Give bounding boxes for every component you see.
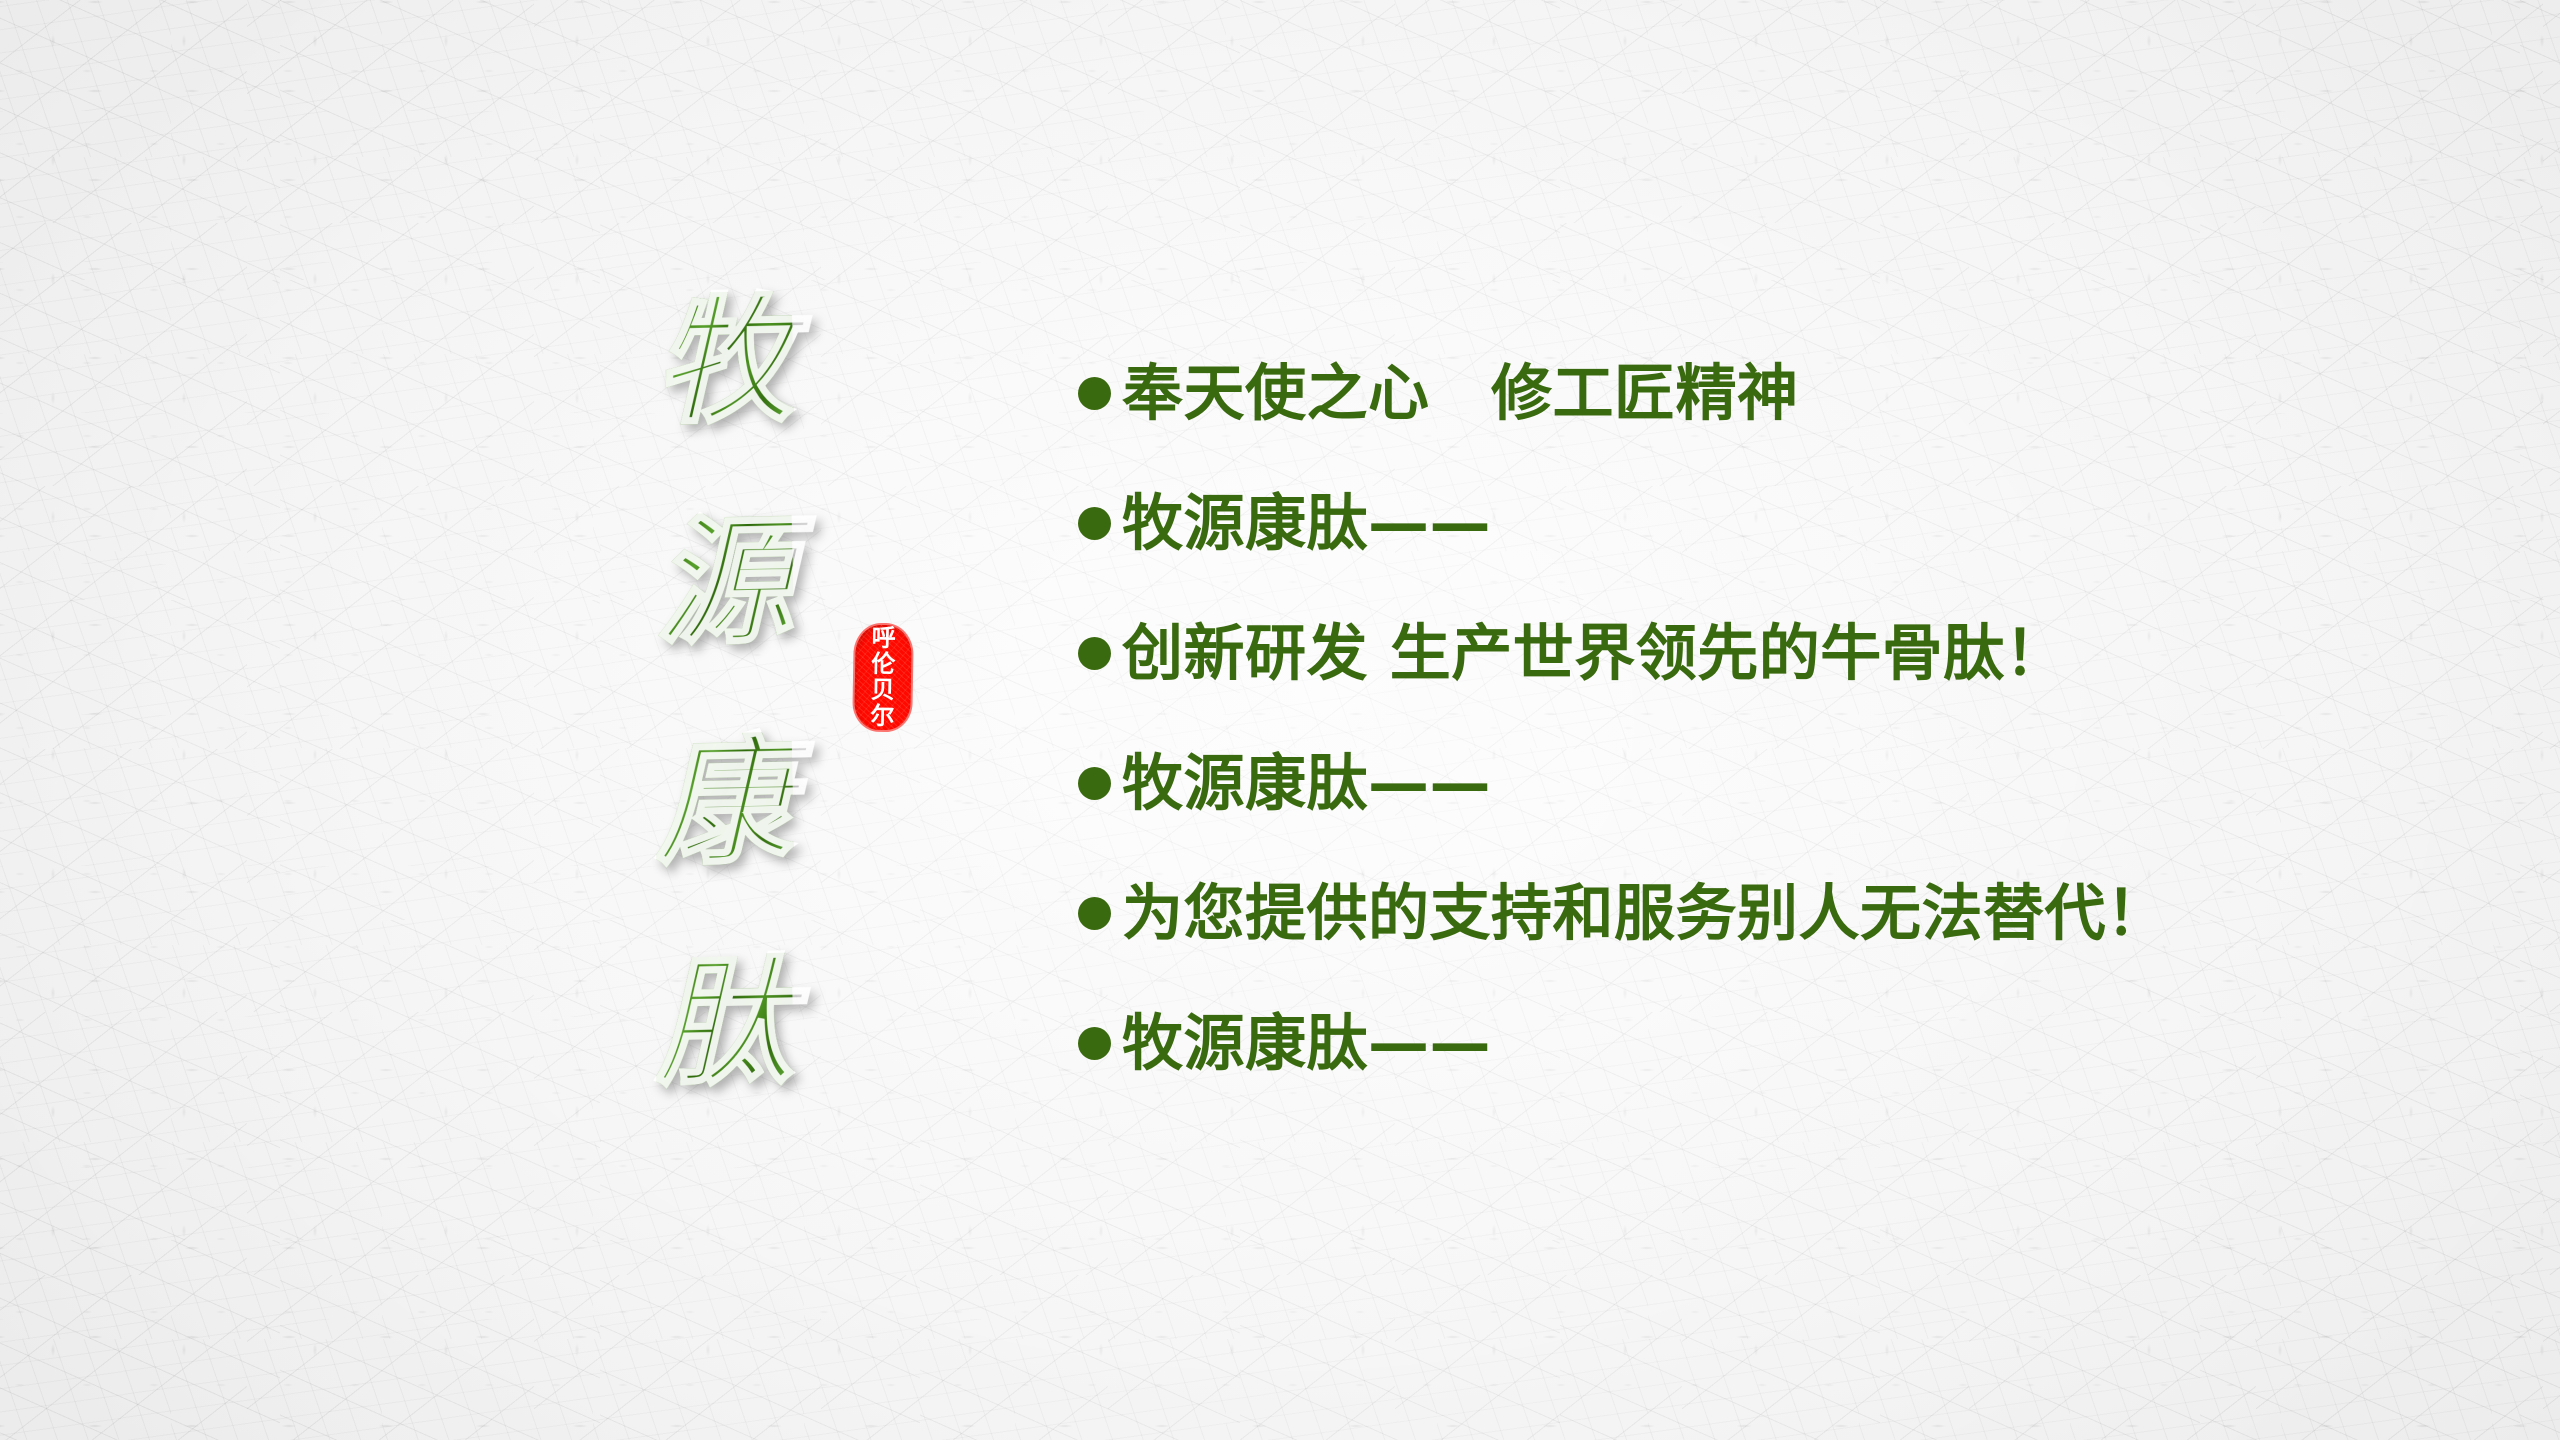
red-seal-stamp-icon: 呼 伦 贝 尔 (854, 625, 912, 731)
bullet-text-4: 牧源康肽—— (1122, 753, 1491, 814)
title-char-3: 康 (654, 732, 795, 873)
seal-char-4: 尔 (870, 703, 894, 729)
seal-char-3: 贝 (871, 677, 895, 703)
bullet-dot-icon (1078, 1027, 1111, 1060)
slide-canvas: 牧 源 康 肽 呼 伦 贝 尔 奉天使之心 修工匠精神 牧源康肽—— 创新研发 … (0, 0, 2560, 1440)
bullet-text-1: 奉天使之心 修工匠精神 (1122, 363, 1799, 424)
bullet-item-2: 牧源康肽—— (1078, 458, 2478, 588)
bullet-text-6: 牧源康肽—— (1122, 1013, 1491, 1074)
bullet-dot-icon (1078, 637, 1111, 670)
bullet-dot-icon (1078, 377, 1111, 410)
seal-char-2: 伦 (871, 651, 895, 677)
title-char-1: 牧 (654, 291, 795, 432)
title-char-2: 源 (654, 511, 795, 652)
bullet-dot-icon (1078, 507, 1111, 540)
title-char-4: 肽 (654, 953, 795, 1094)
bullet-text-5: 为您提供的支持和服务别人无法替代！ (1122, 883, 2168, 944)
bullet-text-3: 创新研发 生产世界领先的牛骨肽！ (1122, 623, 2066, 684)
slogan-bullet-list: 奉天使之心 修工匠精神 牧源康肽—— 创新研发 生产世界领先的牛骨肽！ 牧源康肽… (1078, 328, 2478, 1108)
bullet-dot-icon (1078, 897, 1111, 930)
seal-char-1: 呼 (871, 625, 895, 651)
bullet-item-1: 奉天使之心 修工匠精神 (1078, 328, 2478, 458)
bullet-item-3: 创新研发 生产世界领先的牛骨肽！ (1078, 588, 2478, 718)
bullet-item-6: 牧源康肽—— (1078, 978, 2478, 1108)
bullet-item-5: 为您提供的支持和服务别人无法替代！ (1078, 848, 2478, 978)
bullet-item-4: 牧源康肽—— (1078, 718, 2478, 848)
brand-title-vertical: 牧 源 康 肽 (624, 292, 824, 1092)
bullet-text-2: 牧源康肽—— (1122, 493, 1491, 554)
bullet-dot-icon (1078, 767, 1111, 800)
